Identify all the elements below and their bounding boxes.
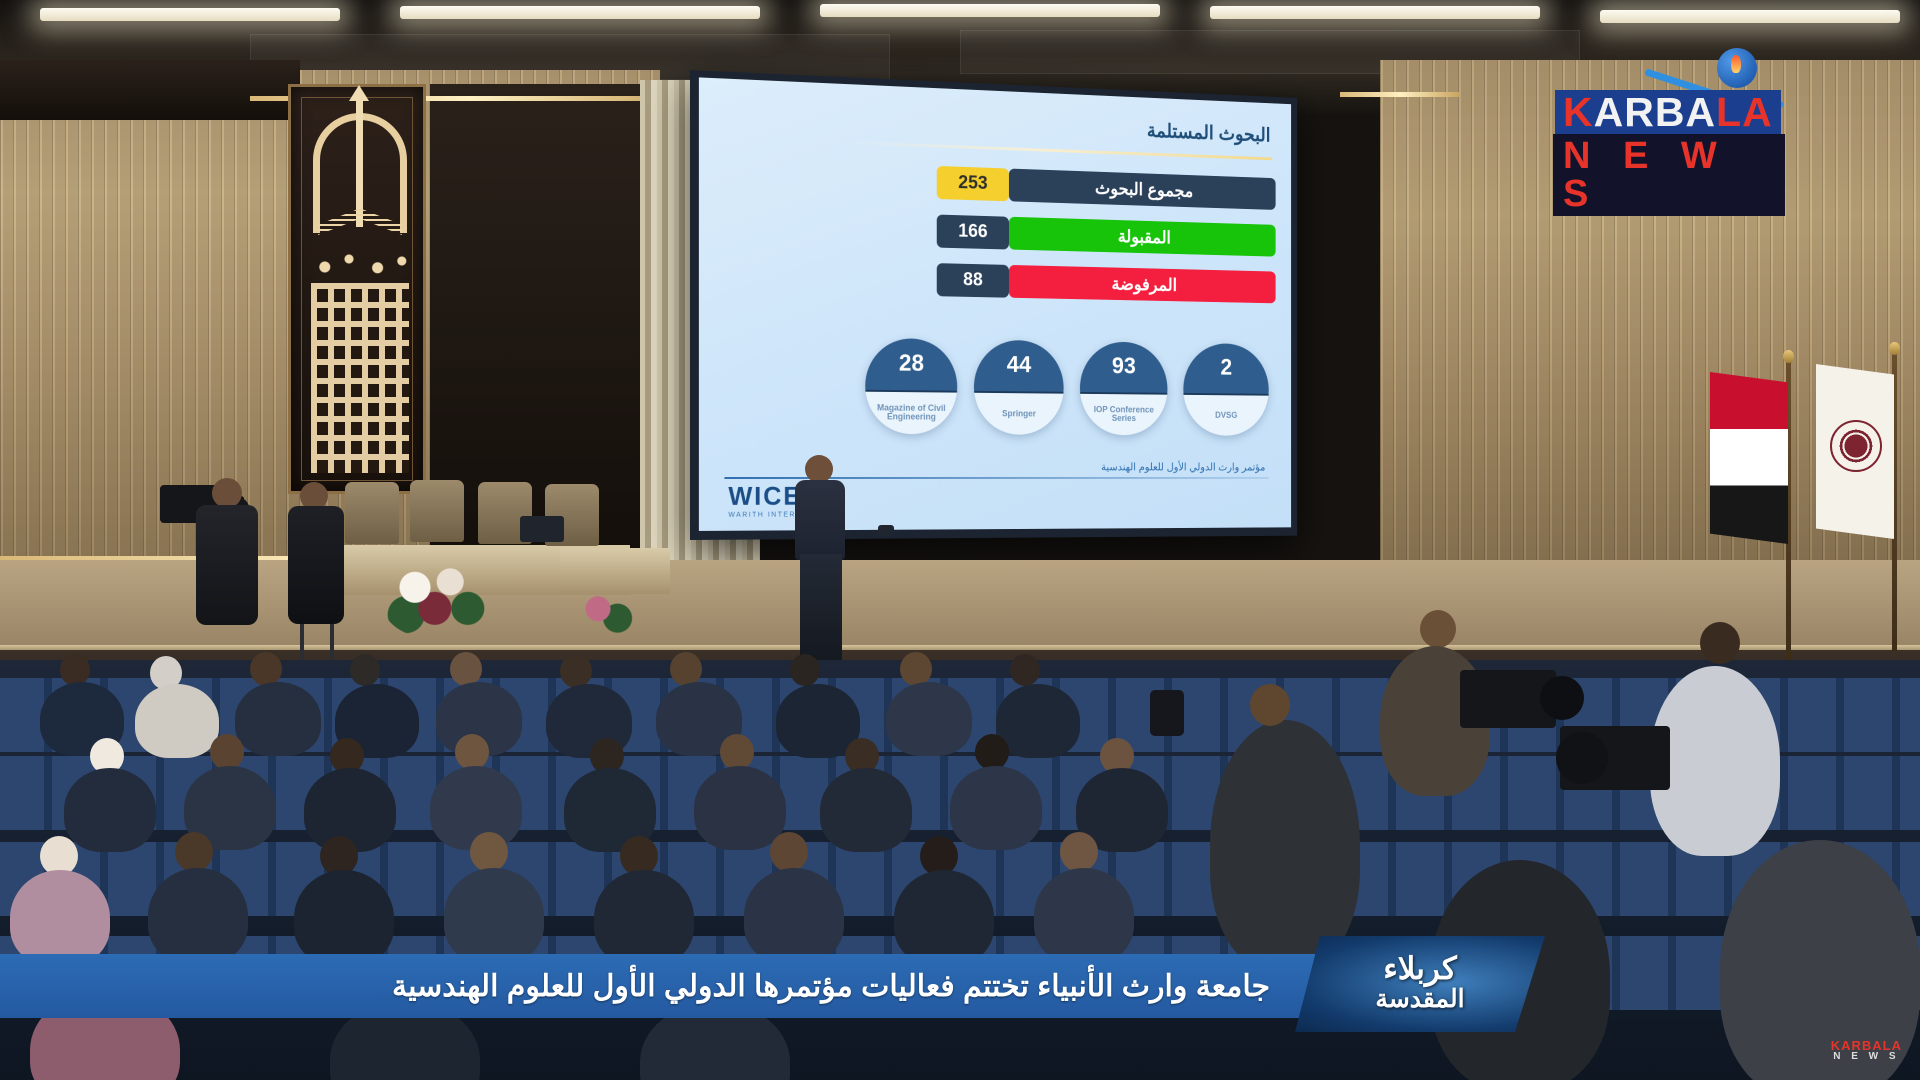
flag-university	[1816, 364, 1894, 539]
lower-third-banner: جامعة وارث الأنبياء تختتم فعاليات مؤتمره…	[0, 954, 1390, 1018]
projection-screen: البحوث المستلمة 253 مجموع البحوث 166 الم…	[690, 70, 1297, 540]
publisher-circle: 28 Magazine of Civil Engineering	[865, 338, 957, 435]
attendee	[294, 870, 394, 966]
bar-label: المرفوضة	[1009, 265, 1276, 303]
ornament-spire	[356, 97, 363, 227]
attendee	[594, 870, 694, 966]
wall-dark-panel	[0, 60, 300, 120]
attendee	[1034, 868, 1134, 964]
bar-row: 166 المقبولة	[840, 212, 1275, 257]
handheld-phone	[1150, 690, 1184, 736]
attendee-head	[670, 652, 702, 686]
attendee-head	[1010, 654, 1040, 686]
press-head	[1250, 684, 1290, 726]
attendee	[444, 868, 544, 964]
city-badge-line2: المقدسة	[1375, 984, 1464, 1015]
city-badge: كربلاء المقدسة	[1295, 936, 1545, 1032]
bar-value: 88	[937, 263, 1009, 298]
attendee-head	[350, 654, 380, 686]
attendee	[64, 768, 156, 852]
ceiling-light	[40, 8, 340, 21]
attendee	[235, 682, 321, 756]
attendee	[148, 868, 248, 964]
publisher-name: Magazine of Civil Engineering	[865, 392, 957, 435]
bar-value: 166	[937, 215, 1009, 250]
attendee	[10, 870, 110, 966]
bar-row: 88 المرفوضة	[840, 261, 1275, 304]
attendee	[996, 684, 1080, 758]
publisher-count: 2	[1183, 343, 1268, 396]
corner-watermark: KARBALA N E W S	[1831, 1039, 1902, 1062]
attendee	[886, 682, 972, 756]
city-badge-line1: كربلاء	[1383, 953, 1457, 984]
ceiling-light	[1600, 10, 1900, 23]
attendee-head	[900, 652, 932, 686]
attendee	[135, 684, 219, 758]
speaker-legs	[800, 554, 842, 664]
flag-iraq	[1710, 372, 1788, 544]
ceiling-light	[820, 4, 1160, 17]
publisher-count: 44	[974, 340, 1064, 394]
speaker-jacket	[795, 480, 845, 560]
gold-trim	[1340, 92, 1460, 97]
chair	[345, 482, 399, 544]
press-head	[1700, 622, 1740, 664]
attendee	[894, 870, 994, 966]
flower-arrangement	[382, 560, 492, 638]
attendee-head	[250, 652, 282, 686]
bar-label: المقبولة	[1009, 217, 1276, 257]
ceiling-light	[400, 6, 760, 19]
attendee-head	[470, 832, 508, 872]
bar-value: 253	[937, 166, 1009, 201]
slide-title: البحوث المستلمة	[1147, 119, 1271, 148]
attendee-head	[210, 734, 244, 770]
camera-lens-icon	[1556, 732, 1608, 784]
slide-footer-text: مؤتمر وارث الدولي الأول للعلوم الهندسية	[1101, 461, 1265, 473]
flag-finial	[1889, 342, 1900, 355]
publisher-circles: 2 DVSG 93 IOP Conference Series 44 Sprin…	[865, 338, 1269, 436]
ornament-script	[305, 243, 415, 283]
attendee-head	[560, 654, 592, 688]
crew-body	[196, 505, 258, 625]
attendee-head	[720, 734, 754, 770]
attendee	[744, 868, 844, 964]
channel-logo: KARBALA N E W S	[1545, 38, 1785, 163]
press-body	[1210, 720, 1360, 970]
broadcast-frame: البحوث المستلمة 253 مجموع البحوث 166 الم…	[0, 0, 1920, 1080]
attendee	[950, 766, 1042, 850]
channel-name-karbala: KARBALA	[1555, 90, 1781, 135]
flower-arrangement	[570, 588, 640, 640]
corner-watermark-line2: N E W S	[1831, 1052, 1902, 1062]
slide: البحوث المستلمة 253 مجموع البحوث 166 الم…	[699, 77, 1291, 531]
publisher-name: IOP Conference Series	[1080, 394, 1168, 436]
head-table	[560, 548, 670, 594]
slide-footer-rule	[724, 477, 1268, 479]
channel-name-news: N E W S	[1553, 134, 1785, 216]
ornament-kufi-calligraphy	[311, 283, 409, 473]
bar-chart: 253 مجموع البحوث 166 المقبولة 88 المرفوض…	[840, 162, 1275, 318]
attendee-head	[790, 654, 820, 686]
attendee-head	[450, 652, 482, 686]
university-seal-icon	[1830, 420, 1882, 472]
attendee-head	[175, 832, 213, 872]
laptop	[520, 516, 564, 542]
attendee	[694, 766, 786, 850]
flag-finial	[1783, 350, 1794, 363]
headline-text: جامعة وارث الأنبياء تختتم فعاليات مؤتمره…	[392, 969, 1390, 1004]
attendee-head	[770, 832, 808, 872]
publisher-circle: 2 DVSG	[1183, 343, 1268, 436]
crew-body	[288, 506, 344, 624]
bar-label: مجموع البحوث	[1009, 169, 1276, 210]
attendee-head	[1060, 832, 1098, 872]
publisher-count: 28	[865, 338, 957, 393]
publisher-name: DVSG	[1183, 395, 1268, 436]
attendee	[820, 768, 912, 852]
satellite-flame-icon	[1731, 55, 1741, 73]
bar-row: 253 مجموع البحوث	[840, 162, 1275, 209]
speaker-head	[805, 455, 833, 483]
publisher-count: 93	[1080, 341, 1168, 394]
publisher-circle: 93 IOP Conference Series	[1080, 341, 1168, 435]
crew-head	[212, 478, 242, 508]
chair	[410, 480, 464, 542]
attendee-head	[975, 734, 1009, 770]
camera-lens-icon	[1540, 676, 1584, 720]
ornament-panel	[288, 84, 426, 494]
presenter-remote	[878, 525, 894, 536]
ceiling-light	[1210, 6, 1540, 19]
publisher-name: Springer	[974, 393, 1064, 435]
attendee-head	[455, 734, 489, 770]
publisher-circle: 44 Springer	[974, 340, 1064, 435]
press-head	[1420, 610, 1456, 648]
